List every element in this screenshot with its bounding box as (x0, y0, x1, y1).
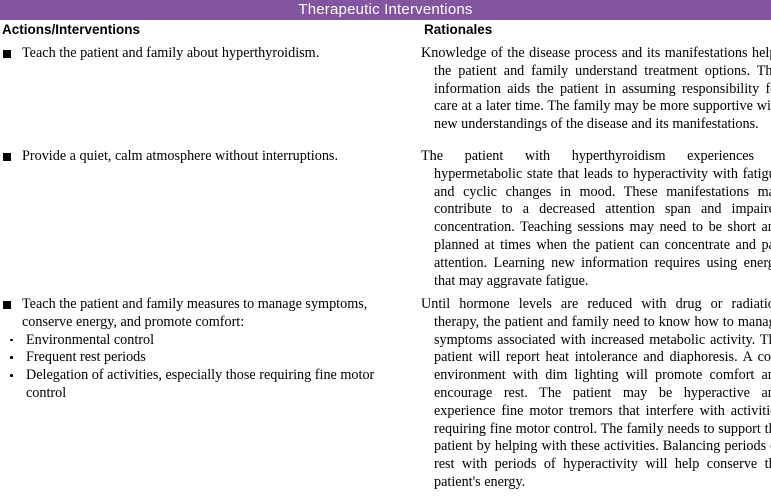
table-row: Provide a quiet, calm atmosphere without… (0, 148, 771, 296)
dot-bullet-icon (10, 356, 13, 359)
sub-item-text: Frequent rest periods (26, 349, 146, 365)
rationale-cell: The patient with hyperthyroidism experie… (421, 148, 771, 290)
rationale-cell: Knowledge of the disease process and its… (421, 45, 771, 134)
table-row: Teach the patient and family about hyper… (0, 45, 771, 148)
list-item: Environmental control (9, 332, 406, 350)
table-title-bar: Therapeutic Interventions (0, 0, 771, 20)
column-headers: Actions/Interventions Rationales (0, 21, 771, 43)
action-text: Provide a quiet, calm atmosphere without… (22, 148, 406, 166)
action-sub-list: Environmental control Frequent rest peri… (2, 332, 406, 403)
list-item: Frequent rest periods (9, 349, 406, 367)
actions-cell: Teach the patient and family measures to… (2, 296, 406, 403)
rationale-cell: Until hormone levels are reduced with dr… (421, 296, 771, 492)
action-text: Teach the patient and family about hyper… (22, 45, 406, 63)
table-body: Teach the patient and family about hyper… (0, 45, 771, 496)
column-header-actions: Actions/Interventions (2, 21, 140, 39)
table-title: Therapeutic Interventions (298, 0, 472, 20)
actions-cell: Teach the patient and family about hyper… (2, 45, 406, 63)
rationale-text: Until hormone levels are reduced with dr… (434, 296, 771, 492)
square-bullet-icon (3, 301, 11, 309)
square-bullet-icon (3, 50, 11, 58)
sub-item-text: Delegation of activities, especially tho… (26, 367, 374, 401)
actions-cell: Provide a quiet, calm atmosphere without… (2, 148, 406, 166)
action-item: Teach the patient and family about hyper… (2, 45, 406, 63)
action-item: Provide a quiet, calm atmosphere without… (2, 148, 406, 166)
column-header-rationales: Rationales (424, 21, 492, 39)
rationale-text: The patient with hyperthyroidism experie… (434, 148, 771, 290)
list-item: Delegation of activities, especially tho… (9, 367, 406, 403)
sub-item-text: Environmental control (26, 332, 154, 348)
table-row: Teach the patient and family measures to… (0, 296, 771, 496)
square-bullet-icon (3, 153, 11, 161)
dot-bullet-icon (10, 374, 13, 377)
dot-bullet-icon (10, 339, 13, 342)
action-text: Teach the patient and family measures to… (22, 296, 406, 332)
document-page: Therapeutic Interventions Actions/Interv… (0, 0, 771, 494)
rationale-text: Knowledge of the disease process and its… (434, 45, 771, 134)
action-item: Teach the patient and family measures to… (2, 296, 406, 332)
